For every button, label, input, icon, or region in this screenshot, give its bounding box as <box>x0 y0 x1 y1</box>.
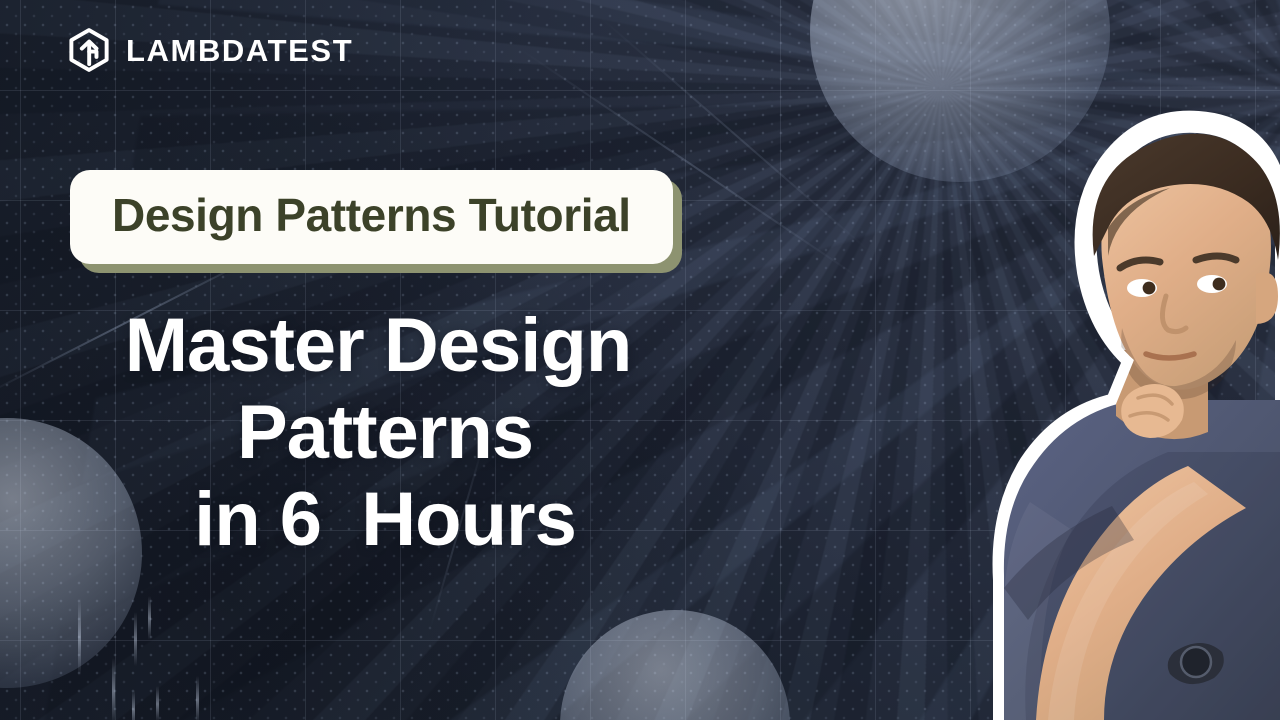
tutorial-badge: Design Patterns Tutorial <box>70 170 673 264</box>
light-shard <box>196 676 199 720</box>
brand-logo[interactable]: LAMBDATEST <box>66 27 353 73</box>
light-shard <box>112 658 115 720</box>
headline-line-3: in 6 Hours <box>0 476 770 563</box>
light-shard <box>132 690 135 720</box>
light-shard <box>148 596 151 640</box>
light-shard <box>78 598 81 676</box>
lambdatest-hexagon-arrow-logo-icon <box>66 27 112 73</box>
light-shard <box>134 612 137 666</box>
brand-name: LAMBDATEST <box>126 35 353 66</box>
headline-line-2: Patterns <box>0 389 770 476</box>
badge-label: Design Patterns Tutorial <box>112 192 631 238</box>
badge-surface: Design Patterns Tutorial <box>70 170 673 264</box>
video-thumbnail: LAMBDATEST Design Patterns Tutorial Mast… <box>0 0 1280 720</box>
headline-line-1: Master Design <box>0 302 770 389</box>
light-shard <box>156 686 159 720</box>
headline: Master Design Patterns in 6 Hours <box>0 302 770 563</box>
